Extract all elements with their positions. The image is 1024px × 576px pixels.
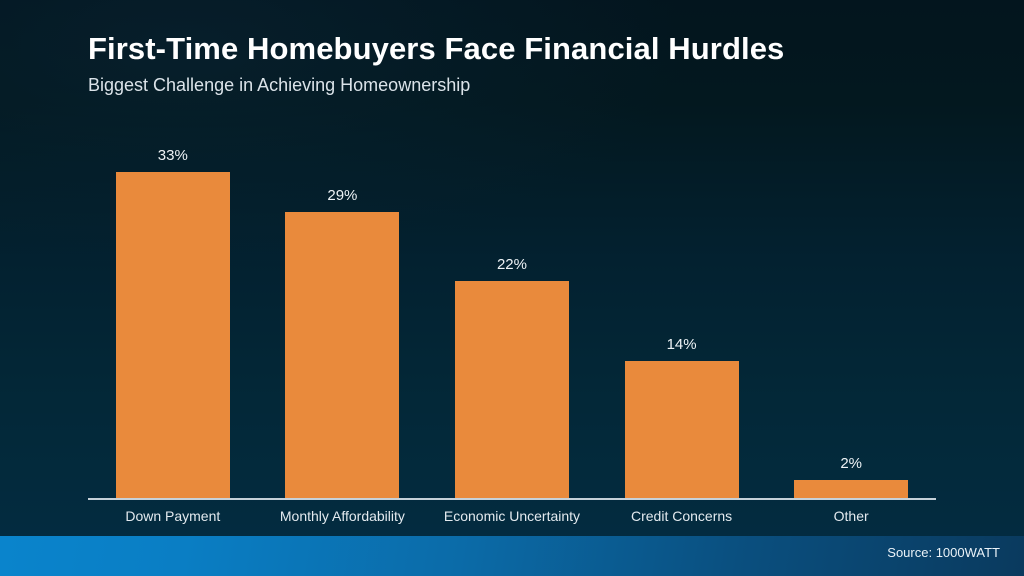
page-subtitle: Biggest Challenge in Achieving Homeowner… xyxy=(88,73,948,97)
bar-value-label: 33% xyxy=(158,148,188,164)
bar-value-label: 2% xyxy=(840,456,862,472)
x-axis-labels: Down Payment Monthly Affordability Econo… xyxy=(88,506,936,526)
page-title: First-Time Homebuyers Face Financial Hur… xyxy=(88,30,948,68)
x-axis-tick-label-monthly-affordability: Monthly Affordability xyxy=(258,506,428,526)
bar-value-label: 29% xyxy=(327,188,357,204)
x-axis-tick-label-credit-concerns: Credit Concerns xyxy=(597,506,767,526)
slide: First-Time Homebuyers Face Financial Hur… xyxy=(0,0,1024,576)
bar-series: 33% 29% 22% 14% 2% xyxy=(88,132,936,500)
x-axis-tick-label-other: Other xyxy=(766,506,936,526)
x-axis-line xyxy=(88,498,936,500)
bar-group-economic-uncertainty: 22% xyxy=(427,132,597,500)
x-axis-tick-label-down-payment: Down Payment xyxy=(88,506,258,526)
bar-value-label: 22% xyxy=(497,257,527,273)
bar-group-credit-concerns: 14% xyxy=(597,132,767,500)
header: First-Time Homebuyers Face Financial Hur… xyxy=(88,30,948,97)
x-axis-tick-label-economic-uncertainty: Economic Uncertainty xyxy=(427,506,597,526)
source-attribution: Source: 1000WATT xyxy=(887,544,1000,562)
bar-value-label: 14% xyxy=(667,337,697,353)
bar-credit-concerns[interactable] xyxy=(625,361,739,500)
bar-economic-uncertainty[interactable] xyxy=(455,281,569,500)
bar-monthly-affordability[interactable] xyxy=(285,212,399,500)
bar-group-down-payment: 33% xyxy=(88,132,258,500)
footer-bar: Source: 1000WATT xyxy=(0,536,1024,576)
bar-down-payment[interactable] xyxy=(116,172,230,500)
bar-group-other: 2% xyxy=(766,132,936,500)
bar-chart: 33% 29% 22% 14% 2% Down Payment xyxy=(88,130,936,500)
bar-group-monthly-affordability: 29% xyxy=(258,132,428,500)
